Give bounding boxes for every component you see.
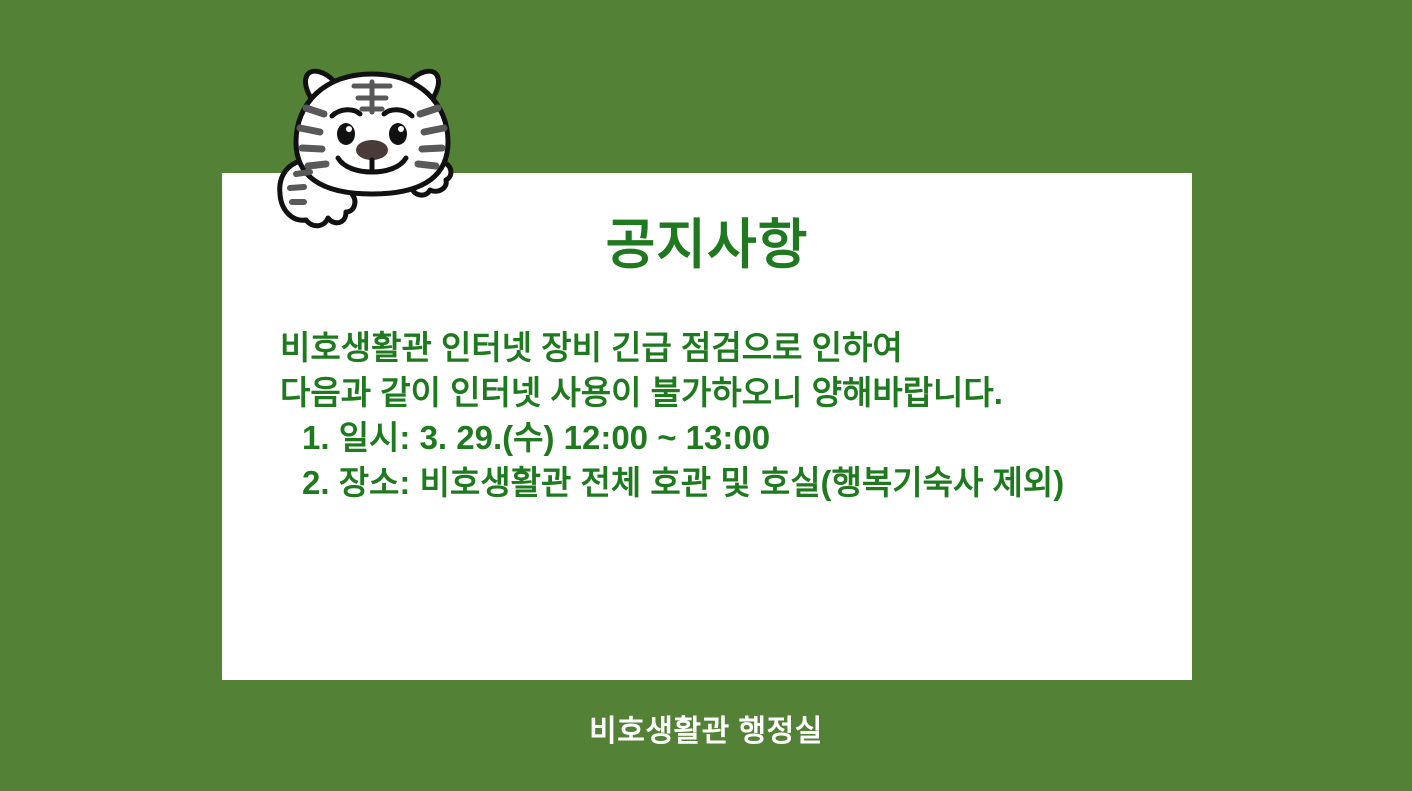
- notice-list-item-2: 2. 장소: 비호생활관 전체 호관 및 호실(행복기숙사 제외): [280, 460, 1180, 505]
- notice-body-line-2: 다음과 같이 인터넷 사용이 불가하오니 양해바랍니다.: [280, 370, 1180, 415]
- notice-list-item-1: 1. 일시: 3. 29.(수) 12:00 ~ 13:00: [280, 415, 1180, 460]
- tiger-illustration: [262, 52, 482, 232]
- tiger-nose: [356, 140, 388, 160]
- notice-card: 공지사항 비호생활관 인터넷 장비 긴급 점검으로 인하여 다음과 같이 인터넷…: [222, 173, 1192, 680]
- poster-canvas: 공지사항 비호생활관 인터넷 장비 긴급 점검으로 인하여 다음과 같이 인터넷…: [0, 0, 1412, 791]
- notice-body: 비호생활관 인터넷 장비 긴급 점검으로 인하여 다음과 같이 인터넷 사용이 …: [280, 325, 1180, 505]
- footer-department-label: 비호생활관 행정실: [0, 706, 1412, 750]
- white-tiger-mascot-icon: [262, 52, 482, 232]
- notice-body-line-1: 비호생활관 인터넷 장비 긴급 점검으로 인하여: [280, 325, 1180, 370]
